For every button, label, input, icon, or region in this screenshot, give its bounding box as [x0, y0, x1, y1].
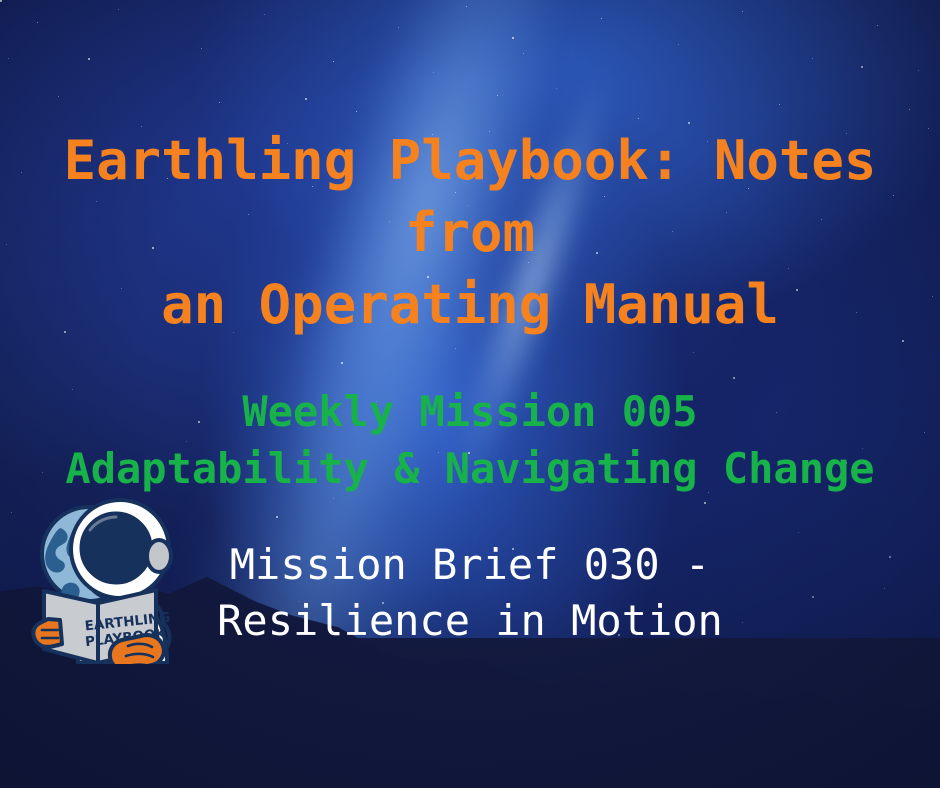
page-title: Earthling Playbook: Notes from an Operat…	[0, 125, 940, 341]
mission-brief-text: Mission Brief 030 - Resilience in Motion	[201, 537, 739, 649]
text-content: Earthling Playbook: Notes from an Operat…	[0, 0, 940, 788]
title-slide: Earthling Playbook: Notes from an Operat…	[0, 0, 940, 788]
mission-subtitle: Weekly Mission 005 Adaptability & Naviga…	[49, 383, 890, 497]
earthling-playbook-logo: EARTHLING PLAYBOOK	[22, 492, 197, 664]
